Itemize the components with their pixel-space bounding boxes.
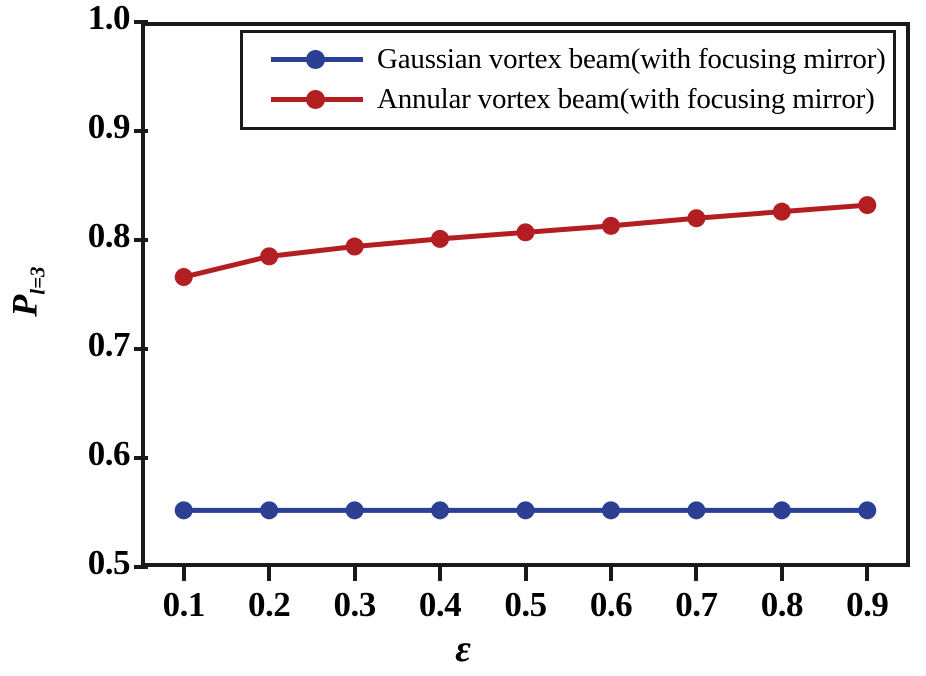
x-axis-tick <box>524 567 528 581</box>
y-axis-tick-label: 0.9 <box>20 107 130 147</box>
x-axis-tick <box>267 567 271 581</box>
x-axis-tick-label: 0.5 <box>481 585 571 625</box>
x-axis-tick-label: 0.6 <box>566 585 656 625</box>
legend-label-annular: Annular vortex beam(with focusing mirror… <box>377 83 875 116</box>
x-axis-tick-label: 0.9 <box>822 585 912 625</box>
series-marker <box>260 501 278 519</box>
series-marker <box>687 501 705 519</box>
x-axis-tick <box>438 567 442 581</box>
series-marker <box>773 501 791 519</box>
x-axis-tick-label: 0.4 <box>395 585 485 625</box>
y-axis-tick <box>134 565 148 569</box>
x-axis-tick-label: 0.1 <box>139 585 229 625</box>
series-marker <box>858 196 876 214</box>
series-marker <box>687 209 705 227</box>
x-axis-tick <box>865 567 869 581</box>
x-axis-tick-label: 0.2 <box>224 585 314 625</box>
series-marker <box>858 501 876 519</box>
legend-swatch-gaussian <box>271 47 363 71</box>
y-axis-tick-label: 0.6 <box>20 434 130 474</box>
legend: Gaussian vortex beam(with focusing mirro… <box>240 30 896 130</box>
chart-figure: 0.50.60.70.80.91.0 0.10.20.30.40.50.60.7… <box>0 0 926 676</box>
series-marker <box>175 501 193 519</box>
series-marker <box>346 501 364 519</box>
series-marker <box>517 501 535 519</box>
series-marker <box>773 203 791 221</box>
y-axis-tick <box>134 20 148 24</box>
x-axis-tick <box>780 567 784 581</box>
y-axis-tick-label: 0.5 <box>20 543 130 583</box>
series-marker <box>346 238 364 256</box>
legend-item-gaussian: Gaussian vortex beam(with focusing mirro… <box>243 39 893 79</box>
x-axis-tick-label: 0.3 <box>310 585 400 625</box>
y-axis-title-subscript: l=3 <box>26 266 50 294</box>
y-axis-tick <box>134 238 148 242</box>
legend-label-gaussian: Gaussian vortex beam(with focusing mirro… <box>377 43 886 76</box>
x-axis-tick <box>609 567 613 581</box>
legend-marker-annular <box>306 90 325 109</box>
x-axis-tick <box>353 567 357 581</box>
series-marker <box>260 247 278 265</box>
legend-marker-gaussian <box>306 50 325 69</box>
x-axis-tick <box>182 567 186 581</box>
series-marker <box>431 501 449 519</box>
legend-item-annular: Annular vortex beam(with focusing mirror… <box>243 79 893 119</box>
series-marker <box>517 223 535 241</box>
y-axis-title-base: P <box>4 295 44 317</box>
y-axis-tick-label: 1.0 <box>20 0 130 38</box>
y-axis-tick <box>134 129 148 133</box>
x-axis-tick-label: 0.7 <box>651 585 741 625</box>
series-marker <box>431 230 449 248</box>
x-axis-tick-label: 0.8 <box>737 585 827 625</box>
legend-swatch-annular <box>271 87 363 111</box>
x-axis-title: ε <box>0 627 926 671</box>
series-marker <box>175 268 193 286</box>
y-axis-tick <box>134 347 148 351</box>
y-axis-title: Pl=3 <box>3 232 50 352</box>
x-axis-tick <box>694 567 698 581</box>
series-marker <box>602 217 620 235</box>
y-axis-tick <box>134 456 148 460</box>
series-marker <box>602 501 620 519</box>
